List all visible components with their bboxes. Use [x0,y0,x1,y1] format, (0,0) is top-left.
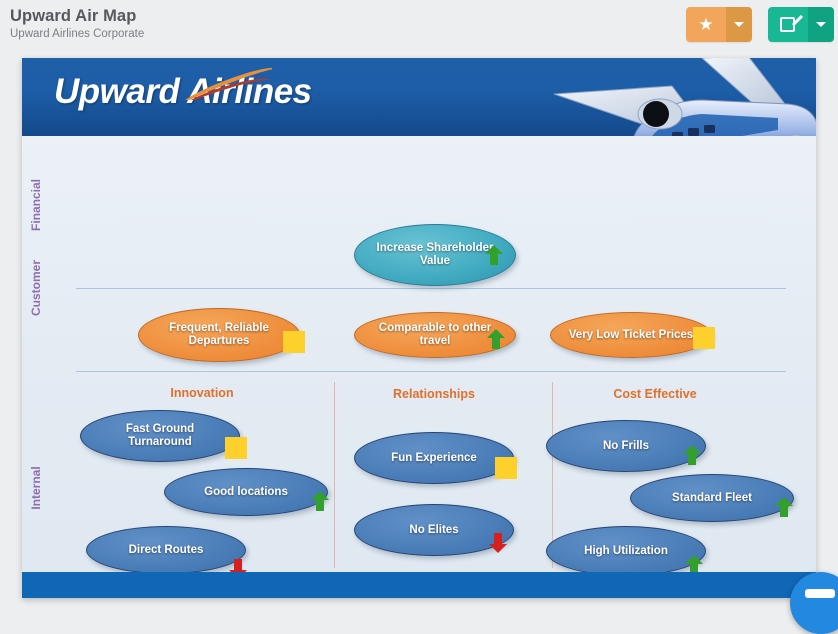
page-subtitle: Upward Airlines Corporate [10,27,144,42]
objective-node[interactable]: Increase Shareholder Value [354,224,516,286]
strategy-map-card: Upward Airlines [22,58,816,598]
arrow-up-icon [485,245,503,265]
arrow-up-icon [487,329,505,349]
objective-node[interactable]: No Elites [354,504,514,556]
theme-divider-1 [334,382,335,568]
chevron-down-icon [816,22,826,27]
favorite-dropdown-button[interactable] [726,7,752,42]
page-title: Upward Air Map [10,6,144,26]
square-indicator-icon [693,327,715,349]
objective-label: High Utilization [584,545,668,558]
company-logo-text: Upward Airlines [54,72,312,112]
objective-node[interactable]: Fast Ground Turnaround [80,410,240,462]
row-divider-customer [76,371,786,372]
floating-action-button[interactable] [790,572,838,634]
objective-node[interactable]: Direct Routes [86,526,246,574]
map-body: Financial Customer Internal L&G Innovati… [22,136,816,598]
objective-label: Standard Fleet [672,492,752,505]
arrow-up-icon [775,497,793,517]
row-divider-financial [76,288,786,289]
objective-node[interactable]: Good locations [164,468,328,516]
objective-node[interactable]: Standard Fleet [630,474,794,522]
objective-node[interactable]: High Utilization [546,526,706,576]
objective-label: No Frills [603,440,649,453]
edit-button[interactable] [768,7,808,42]
objective-node[interactable]: Fun Experience [354,432,514,484]
objective-label: Fast Ground Turnaround [93,423,227,449]
perspective-label-customer: Customer [29,248,43,328]
objective-label: Good locations [204,486,288,499]
arrow-up-icon [311,491,329,511]
star-icon: ★ [698,16,713,33]
objective-node[interactable]: No Frills [546,420,706,472]
objective-node[interactable]: Very Low Ticket Prices [550,312,712,358]
chevron-down-icon [734,22,744,27]
objective-label: Increase Shareholder Value [367,242,503,268]
objective-label: Direct Routes [129,544,204,557]
objective-label: No Elites [409,524,458,537]
action-button-icon [805,589,835,598]
theme-header-innovation: Innovation [102,386,302,400]
arrow-down-icon [489,533,507,553]
banner: Upward Airlines [22,58,816,136]
arrow-up-icon [683,445,701,465]
perspective-label-financial: Financial [29,165,43,245]
edit-icon [780,16,797,33]
square-indicator-icon [495,457,517,479]
objective-label: Comparable to other travel [367,322,503,348]
slide-footer-bar [22,572,816,598]
perspective-label-internal: Internal [29,448,43,528]
favorite-button-group[interactable]: ★ [686,7,752,42]
edit-button-group[interactable] [768,7,834,42]
airplane-photo [552,58,816,136]
objective-label: Very Low Ticket Prices [569,329,693,342]
favorite-button[interactable]: ★ [686,7,726,42]
top-bar: Upward Air Map Upward Airlines Corporate… [0,0,838,55]
square-indicator-icon [283,331,305,353]
title-block: Upward Air Map Upward Airlines Corporate [10,6,144,42]
objective-label: Fun Experience [391,452,477,465]
edit-dropdown-button[interactable] [808,7,834,42]
theme-header-relationships: Relationships [334,387,534,401]
theme-header-cost-effective: Cost Effective [555,387,755,401]
objective-label: Frequent, Reliable Departures [151,322,287,348]
square-indicator-icon [225,437,247,459]
perspective-rail: Financial Customer Internal L&G [22,136,66,566]
objective-node[interactable]: Comparable to other travel [354,312,516,358]
objective-node[interactable]: Frequent, Reliable Departures [138,308,300,362]
